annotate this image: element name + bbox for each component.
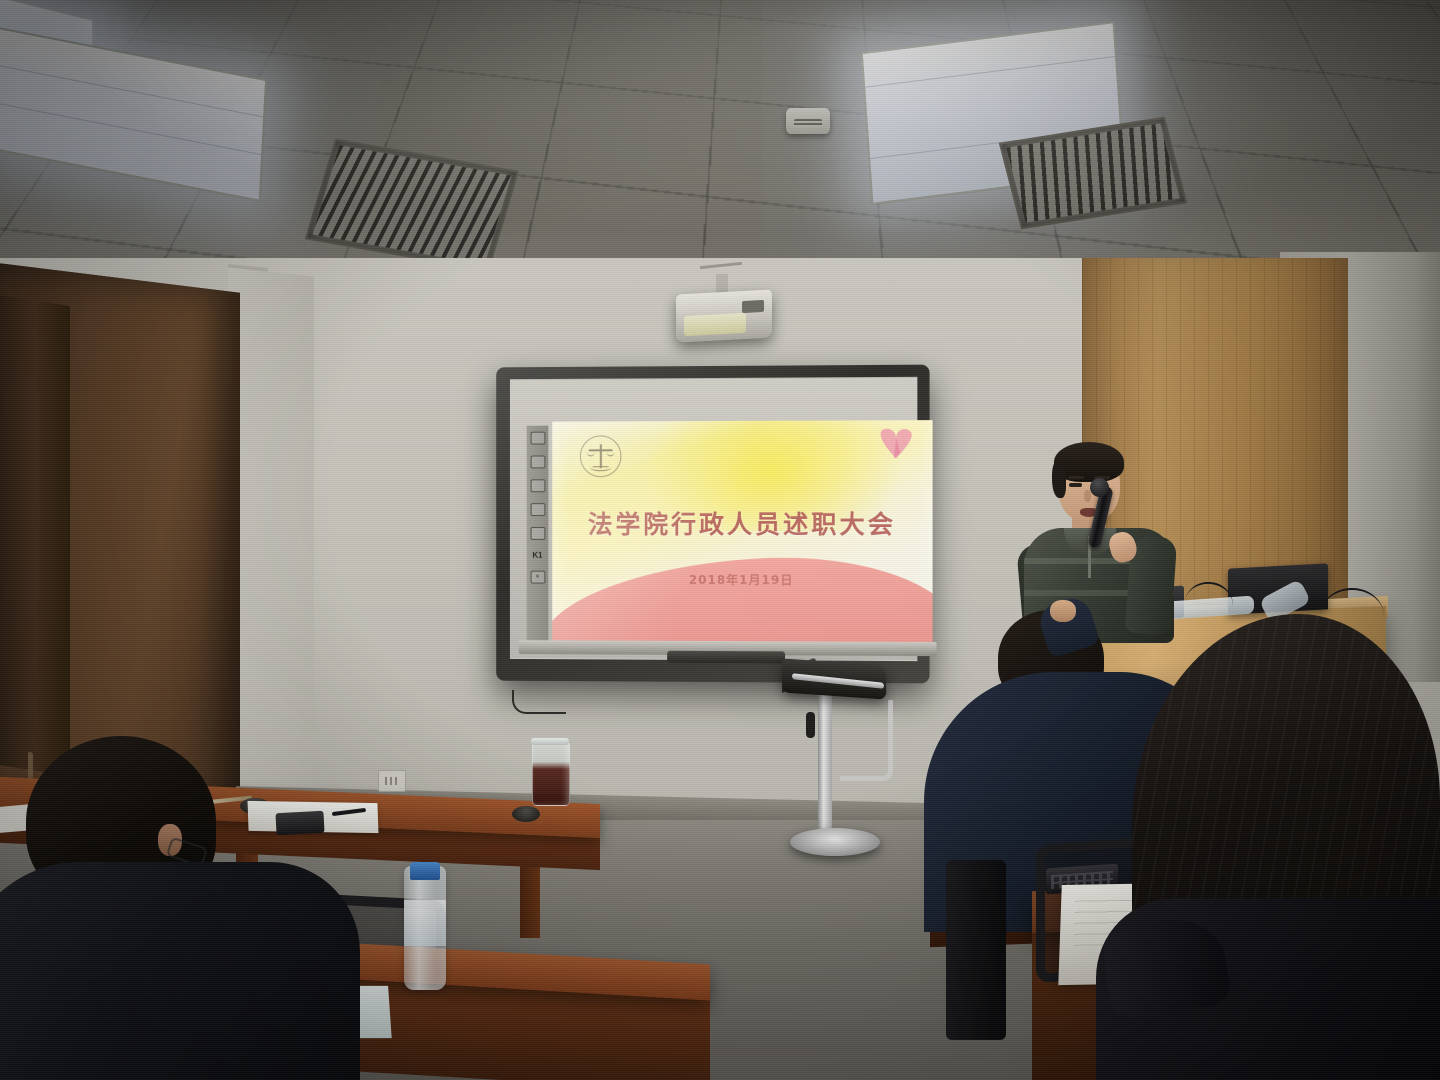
stool-footrest (840, 700, 893, 781)
presenter-eye-left (1069, 483, 1082, 487)
left-wall-door[interactable] (0, 294, 70, 776)
black-lid-right[interactable] (512, 806, 540, 822)
wall-power-outlet[interactable] (378, 770, 406, 792)
presenter-hair-side (1052, 460, 1066, 498)
pink-heart-ribbon-icon (874, 424, 919, 468)
left-wall-light-strip (228, 267, 314, 806)
line-tool-icon[interactable] (530, 479, 545, 492)
tea-jar-lid[interactable] (531, 738, 569, 745)
law-school-emblem-icon (580, 435, 622, 477)
glass-tea-jar[interactable] (532, 742, 570, 806)
whiteboard-pen-tray[interactable] (519, 640, 937, 656)
right-attendee-male-hand (1050, 600, 1076, 622)
stool-height-lever[interactable] (806, 712, 815, 738)
water-bottle-front-cap (410, 862, 440, 880)
stool-base (790, 828, 880, 856)
whiteboard-toolbar[interactable]: K1 × (527, 426, 549, 643)
slide-date: 2018年1月19日 (552, 571, 932, 589)
whiteboard-markers[interactable] (667, 651, 785, 664)
right-chair-side[interactable] (946, 860, 1006, 1040)
projector-lens-icon (684, 313, 746, 336)
smartphone[interactable] (275, 811, 324, 835)
front-left-attendee (0, 862, 360, 1080)
close-icon[interactable]: × (530, 571, 545, 584)
ceiling-projector (676, 289, 772, 342)
eraser-tool-icon[interactable] (530, 455, 545, 468)
stool-pole (818, 694, 832, 834)
water-bottle-label (404, 900, 446, 946)
projector-vent (742, 300, 764, 313)
presenter-eyebrow-left (1068, 476, 1084, 479)
pen-tool-icon[interactable] (530, 432, 545, 445)
whiteboard-cable (512, 690, 566, 714)
slide-title: 法学院行政人员述职大会 (552, 505, 932, 541)
ceiling-shading (0, 0, 1440, 290)
shape-tool-icon[interactable] (530, 503, 545, 516)
meeting-room-photo: 法学院行政人员述职大会 2018年1月19日 K1 × (0, 0, 1440, 1080)
interactive-whiteboard[interactable]: 法学院行政人员述职大会 2018年1月19日 K1 × (496, 365, 929, 684)
whiteboard-channel-label: K1 (532, 551, 542, 560)
whiteboard-surface[interactable]: 法学院行政人员述职大会 2018年1月19日 K1 × (510, 377, 917, 661)
undo-tool-icon[interactable] (530, 527, 545, 540)
projected-slide: 法学院行政人员述职大会 2018年1月19日 (552, 420, 932, 646)
slide-pink-wave (552, 547, 932, 646)
